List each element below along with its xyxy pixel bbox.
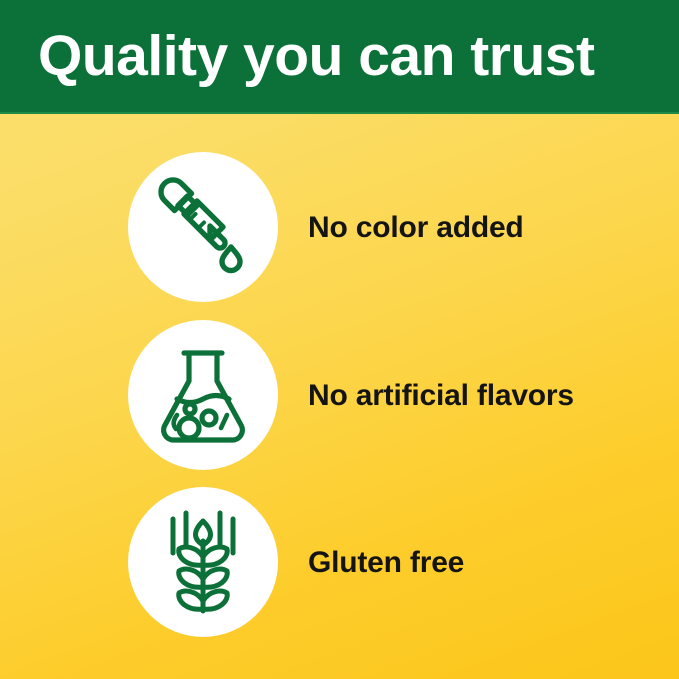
feature-row: No artificial flavors — [0, 320, 679, 470]
feature-label: No artificial flavors — [308, 379, 574, 412]
feature-label: No color added — [308, 211, 524, 244]
feature-list: No color added — [0, 114, 679, 679]
icon-circle — [128, 487, 278, 637]
flask-icon — [153, 343, 253, 447]
quality-badges-poster: Quality you can trust — [0, 0, 679, 679]
header-band: Quality you can trust — [0, 0, 679, 114]
feature-row: Gluten free — [0, 487, 679, 637]
wheat-icon — [157, 507, 249, 617]
icon-circle — [128, 320, 278, 470]
feature-row: No color added — [0, 152, 679, 302]
page-title: Quality you can trust — [38, 28, 594, 85]
icon-circle — [128, 152, 278, 302]
dropper-icon — [151, 175, 255, 279]
feature-label: Gluten free — [308, 546, 464, 579]
